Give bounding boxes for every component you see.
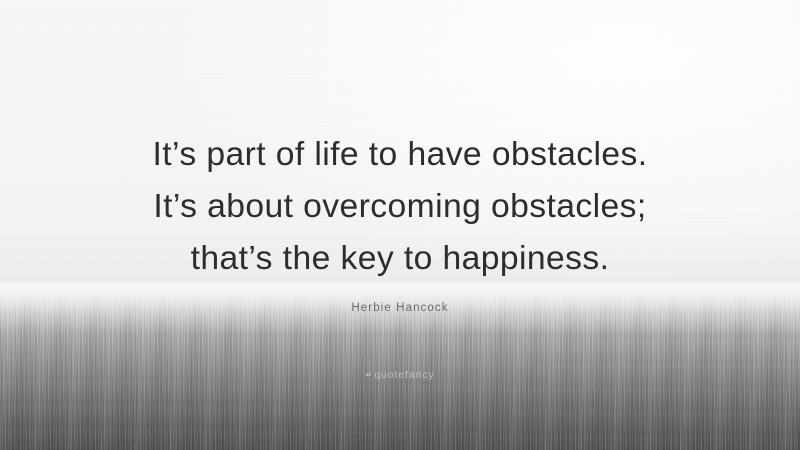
quote-poster: It’s part of life to have obstacles. It’… [0,0,800,450]
quote-line-2: It’s about overcoming obstacles; [0,180,800,232]
quote-line-1: It’s part of life to have obstacles. [0,128,800,180]
watermark: “ quotefancy [0,369,800,381]
poster-content: It’s part of life to have obstacles. It’… [0,0,800,450]
quote-text-block: It’s part of life to have obstacles. It’… [0,128,800,284]
watermark-label: quotefancy [374,369,434,381]
quote-line-3: that’s the key to happiness. [0,232,800,284]
quote-attribution: Herbie Hancock [0,302,800,314]
quote-mark-icon: “ [365,371,370,381]
